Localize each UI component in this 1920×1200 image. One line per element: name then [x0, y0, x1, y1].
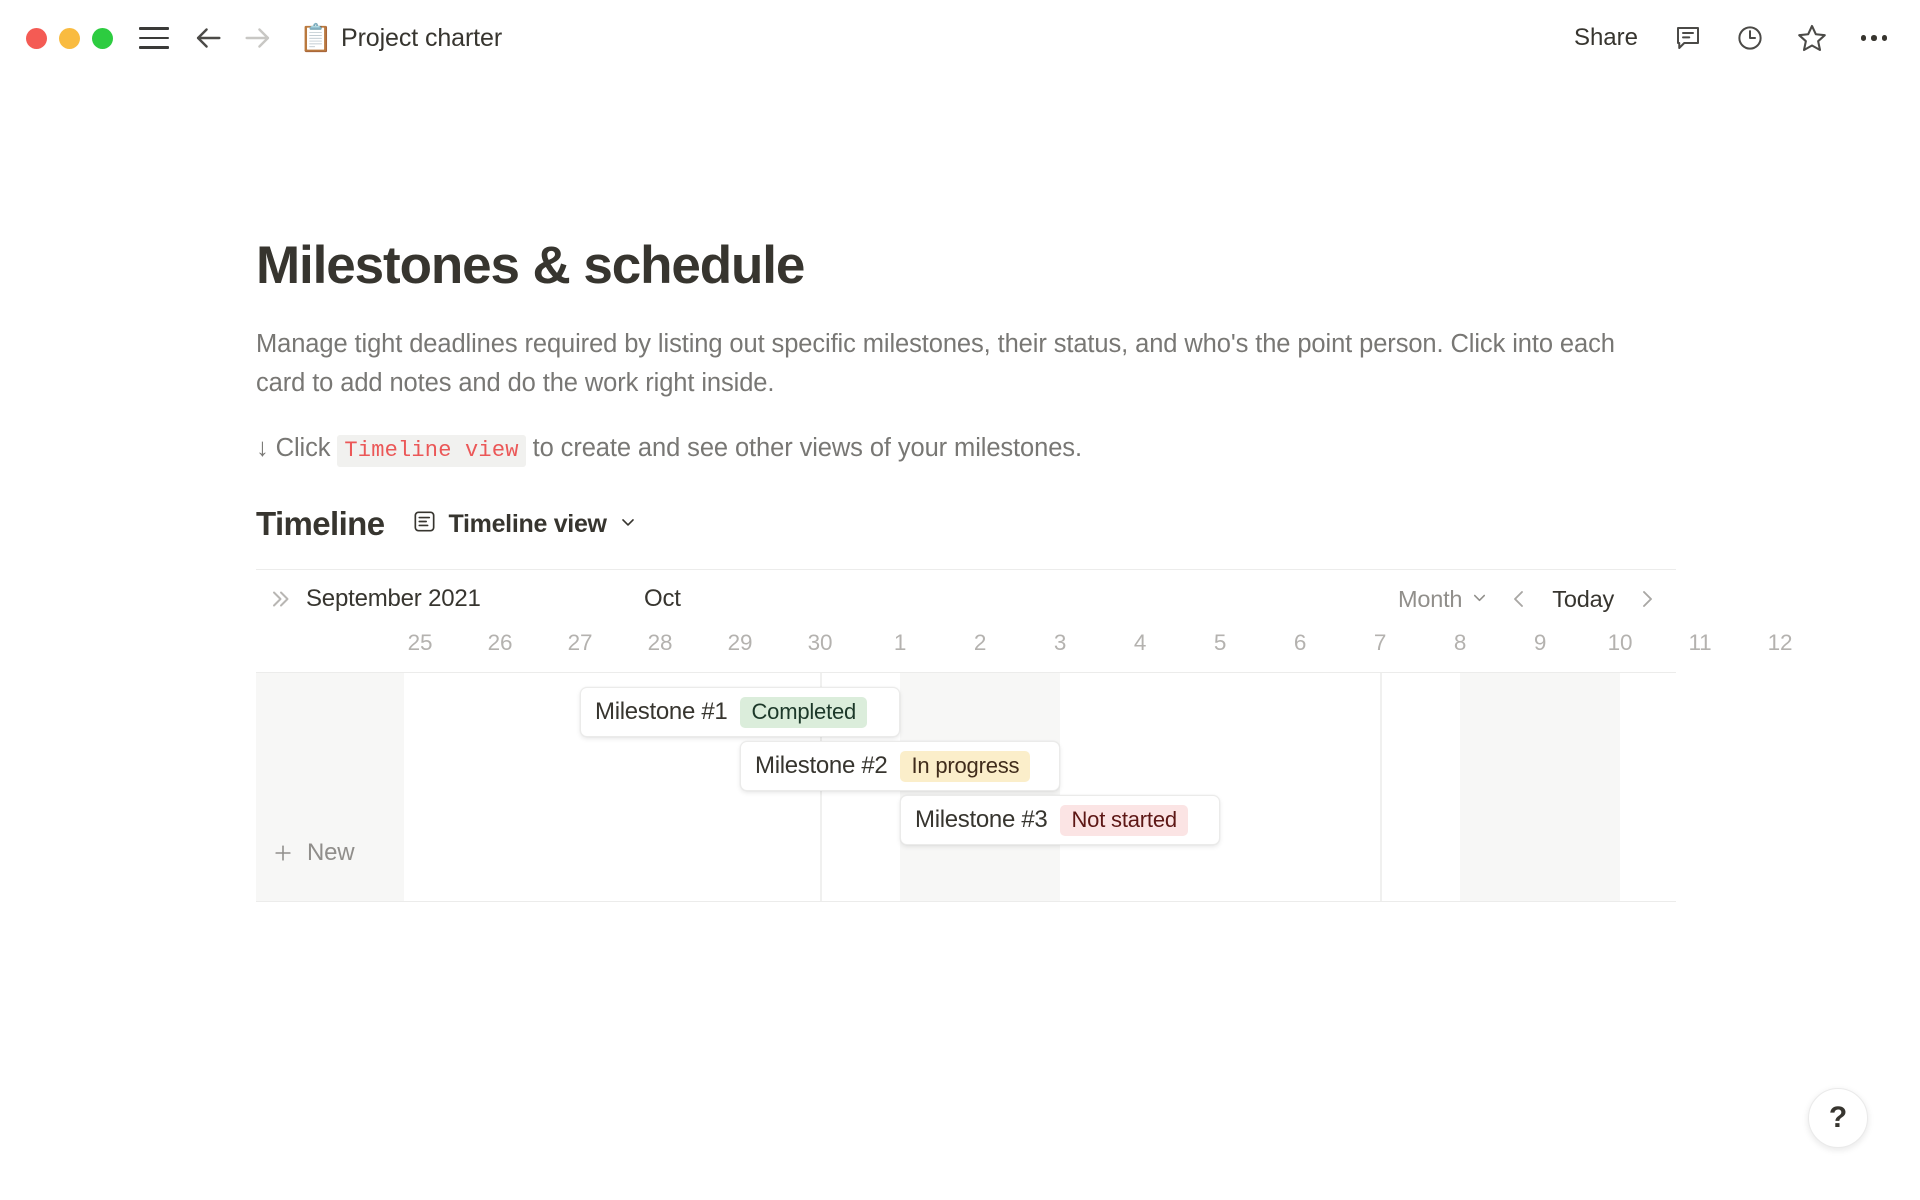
add-new-row-label: New: [307, 839, 354, 867]
milestone-name: Milestone #3: [915, 806, 1047, 834]
document-emoji-icon[interactable]: 📋: [299, 25, 329, 52]
star-icon[interactable]: [1794, 20, 1830, 56]
app-window: 📋 Project charter Share: [0, 0, 1920, 1200]
share-button[interactable]: Share: [1568, 20, 1644, 56]
timeline-milestone-card[interactable]: Milestone #1Completed: [580, 687, 900, 737]
timeline-grid-body[interactable]: New Milestone #1CompletedMilestone #2In …: [256, 673, 1676, 902]
timeline-month-group: September 2021: [268, 585, 481, 613]
hamburger-icon[interactable]: [139, 23, 169, 53]
close-window-button[interactable]: [26, 28, 47, 49]
page-content: Milestones & schedule Manage tight deadl…: [256, 236, 1676, 902]
chevron-down-icon: [1470, 586, 1489, 613]
more-dot: [1861, 35, 1867, 41]
hamburger-bar: [139, 46, 169, 49]
timeline-gridline: [1380, 673, 1382, 901]
double-chevron-right-icon[interactable]: [268, 587, 292, 611]
more-options-icon[interactable]: [1856, 20, 1892, 56]
hamburger-bar: [139, 37, 169, 40]
timeline-day-label: 29: [700, 630, 780, 656]
window-titlebar: 📋 Project charter Share: [0, 0, 1920, 76]
minimize-window-button[interactable]: [59, 28, 80, 49]
titlebar-actions: Share: [1568, 20, 1892, 56]
timeline-day-label: 11: [1660, 630, 1740, 656]
add-new-row-button[interactable]: New: [272, 839, 354, 867]
timeline-day-label: 5: [1180, 630, 1260, 656]
timeline-nav-controls: Month Today: [1389, 578, 1668, 620]
timeline-day-label: 26: [460, 630, 540, 656]
timeline-next-button[interactable]: [1626, 578, 1668, 620]
timeline-day-label: 8: [1420, 630, 1500, 656]
timeline-today-button[interactable]: Today: [1540, 581, 1626, 618]
more-dot: [1871, 35, 1877, 41]
status-badge: Not started: [1060, 805, 1187, 836]
timeline-day-label: 9: [1500, 630, 1580, 656]
timeline-day-label: 6: [1260, 630, 1340, 656]
page-title: Milestones & schedule: [256, 236, 1676, 297]
timeline-day-label: 27: [540, 630, 620, 656]
timeline-day-label: 28: [620, 630, 700, 656]
callout-line: ↓ Click Timeline view to create and see …: [256, 429, 1676, 467]
timeline-day-label: 7: [1340, 630, 1420, 656]
timeline-day-label: 10: [1580, 630, 1660, 656]
traffic-light-controls: [26, 28, 113, 49]
milestone-name: Milestone #1: [595, 698, 727, 726]
timeline-milestone-card[interactable]: Milestone #2In progress: [740, 741, 1060, 791]
hamburger-bar: [139, 27, 169, 30]
timeline-day-label: 3: [1020, 630, 1100, 656]
timeline-day-label: 12: [1740, 630, 1820, 656]
timeline-toolbar: September 2021 Oct Month: [256, 569, 1676, 628]
chevron-down-icon: [618, 512, 638, 537]
status-badge: Completed: [740, 697, 867, 728]
timeline-view-label: Timeline view: [448, 510, 606, 539]
maximize-window-button[interactable]: [92, 28, 113, 49]
timeline-day-label: 25: [380, 630, 460, 656]
timeline-day-label: 30: [780, 630, 860, 656]
timeline-prev-button[interactable]: [1498, 578, 1540, 620]
arrow-left-icon[interactable]: [191, 21, 225, 55]
plus-icon: [272, 842, 294, 864]
inline-code-timeline-view: Timeline view: [337, 435, 525, 467]
timeline-day-label: 1: [860, 630, 940, 656]
status-badge: In progress: [900, 751, 1030, 782]
document-title[interactable]: Project charter: [341, 24, 502, 53]
database-header: Timeline Timeline view: [256, 505, 1676, 543]
more-dot: [1882, 35, 1888, 41]
timeline-widget: September 2021 Oct Month: [256, 569, 1676, 902]
tab-timeline-view[interactable]: Timeline view: [406, 505, 643, 543]
callout-suffix: to create and see other views of your mi…: [533, 434, 1082, 462]
timeline-zoom-label: Month: [1398, 586, 1462, 613]
help-button[interactable]: ?: [1808, 1088, 1868, 1148]
timeline-next-month: Oct: [644, 585, 681, 613]
timeline-current-month: September 2021: [306, 585, 481, 613]
comment-icon[interactable]: [1670, 20, 1706, 56]
database-title[interactable]: Timeline: [256, 505, 384, 543]
timeline-day-ruler: 252627282930123456789101112: [256, 628, 1676, 673]
timeline-day-label: 4: [1100, 630, 1180, 656]
milestone-name: Milestone #2: [755, 752, 887, 780]
arrow-right-icon[interactable]: [241, 21, 275, 55]
page-description: Manage tight deadlines required by listi…: [256, 325, 1616, 403]
timeline-zoom-select[interactable]: Month: [1389, 581, 1498, 618]
timeline-view-icon: [412, 509, 437, 539]
clock-icon[interactable]: [1732, 20, 1768, 56]
timeline-weekend-band: [1460, 673, 1540, 901]
timeline-day-label: 2: [940, 630, 1020, 656]
timeline-weekend-band: [1540, 673, 1620, 901]
callout-prefix: ↓ Click: [256, 434, 330, 462]
timeline-milestone-card[interactable]: Milestone #3Not started: [900, 795, 1220, 845]
